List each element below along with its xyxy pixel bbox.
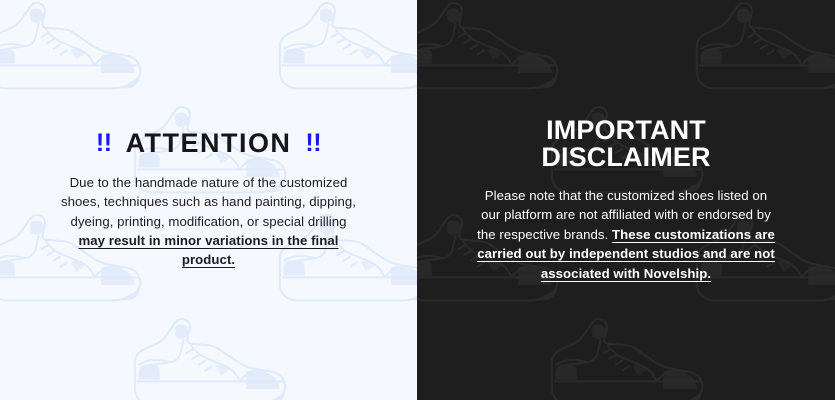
attention-panel: !! ATTENTION !! Due to the handmade natu… <box>0 0 417 400</box>
disclaimer-panel: IMPORTANT DISCLAIMER Please note that th… <box>417 0 835 400</box>
dual-notice-banner: !! ATTENTION !! Due to the handmade natu… <box>0 0 835 400</box>
disclaimer-heading-line-2: DISCLAIMER <box>477 144 775 172</box>
attention-body-plain: Due to the handmade nature of the custom… <box>61 175 356 229</box>
disclaimer-heading-line-1: IMPORTANT <box>477 117 775 145</box>
bang-right-icon: !! <box>305 131 321 156</box>
bang-left-icon: !! <box>96 131 112 156</box>
disclaimer-body: Please note that the customized shoes li… <box>477 186 775 283</box>
disclaimer-content: IMPORTANT DISCLAIMER Please note that th… <box>417 117 835 283</box>
disclaimer-heading: IMPORTANT DISCLAIMER <box>477 117 775 172</box>
attention-heading: !! ATTENTION !! <box>56 130 361 158</box>
attention-content: !! ATTENTION !! Due to the handmade natu… <box>0 130 417 270</box>
attention-body: Due to the handmade nature of the custom… <box>56 173 361 270</box>
attention-heading-text: ATTENTION <box>126 130 292 158</box>
attention-body-emphasis: may result in minor variations in the fi… <box>78 233 338 267</box>
